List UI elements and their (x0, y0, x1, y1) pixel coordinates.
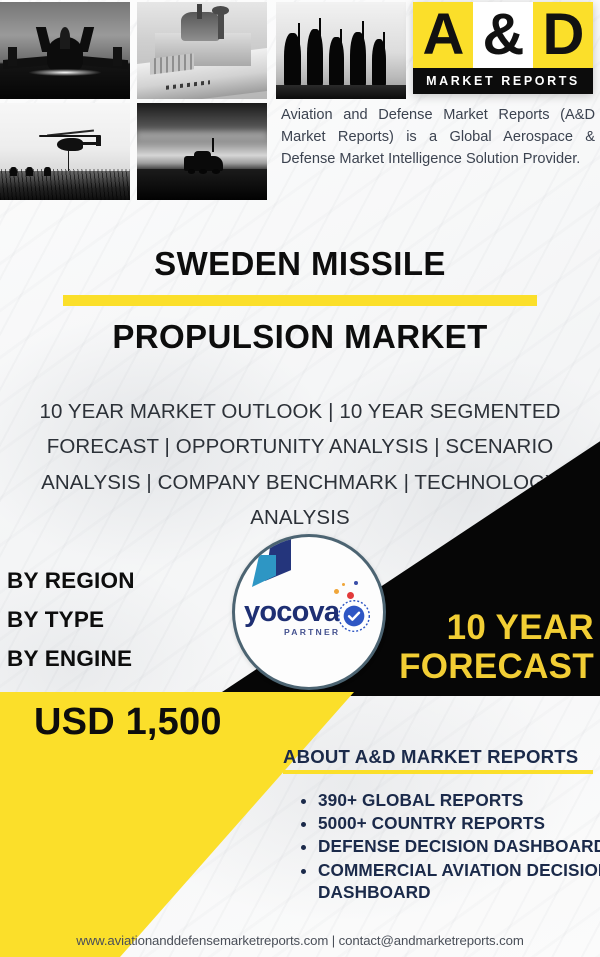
armored-vehicle-photo (137, 103, 267, 200)
about-section-title: ABOUT A&D MARKET REPORTS (283, 746, 578, 768)
segment-item-region: BY REGION (7, 561, 135, 600)
price-label: USD 1,500 (34, 701, 222, 744)
about-bullet-list: 390+ GLOBAL REPORTS 5000+ COUNTRY REPORT… (294, 789, 600, 904)
report-title-line-2: PROPULSION MARKET (0, 318, 600, 357)
logo-tagline: MARKET REPORTS (413, 68, 593, 94)
yocova-partner-badge: yocova PARTNER (232, 534, 386, 690)
report-title-block: SWEDEN MISSILE PROPULSION MARKET (0, 245, 600, 357)
about-underline-rule (283, 770, 593, 774)
badge-partner-label: PARTNER (284, 627, 340, 637)
warship-photo (137, 2, 267, 99)
fighter-jet-photo (0, 2, 130, 99)
segment-item-engine: BY ENGINE (7, 639, 135, 678)
logo-letter-d: D (533, 2, 593, 68)
segment-item-type: BY TYPE (7, 600, 135, 639)
logo-ampersand: & (473, 2, 533, 68)
report-cover-poster: A & D MARKET REPORTS Aviation and Defens… (0, 0, 600, 957)
badge-brand-name: yocova (244, 598, 344, 627)
ad-market-reports-logo: A & D MARKET REPORTS (413, 2, 593, 94)
segmentation-list: BY REGION BY TYPE BY ENGINE (7, 561, 135, 678)
list-item: 390+ GLOBAL REPORTS (318, 789, 600, 811)
logo-letter-a: A (413, 2, 473, 68)
footer-contact-line: www.aviationanddefensemarketreports.com … (0, 933, 600, 948)
company-intro-text: Aviation and Defense Market Reports (A&D… (281, 104, 595, 171)
verified-check-seal-icon (336, 598, 372, 634)
logo-letter-tiles: A & D (413, 2, 593, 68)
report-title-line-1: SWEDEN MISSILE (0, 245, 600, 284)
badge-chevron-light-icon (252, 555, 276, 587)
list-item: COMMERCIAL AVIATION DECISION DASHBOARD (318, 859, 600, 903)
title-underline-rule (63, 295, 537, 306)
helicopter-photo (0, 103, 130, 200)
soldiers-silhouette-photo (276, 2, 406, 99)
list-item: DEFENSE DECISION DASHBOARD (318, 835, 600, 857)
list-item: 5000+ COUNTRY REPORTS (318, 812, 600, 834)
